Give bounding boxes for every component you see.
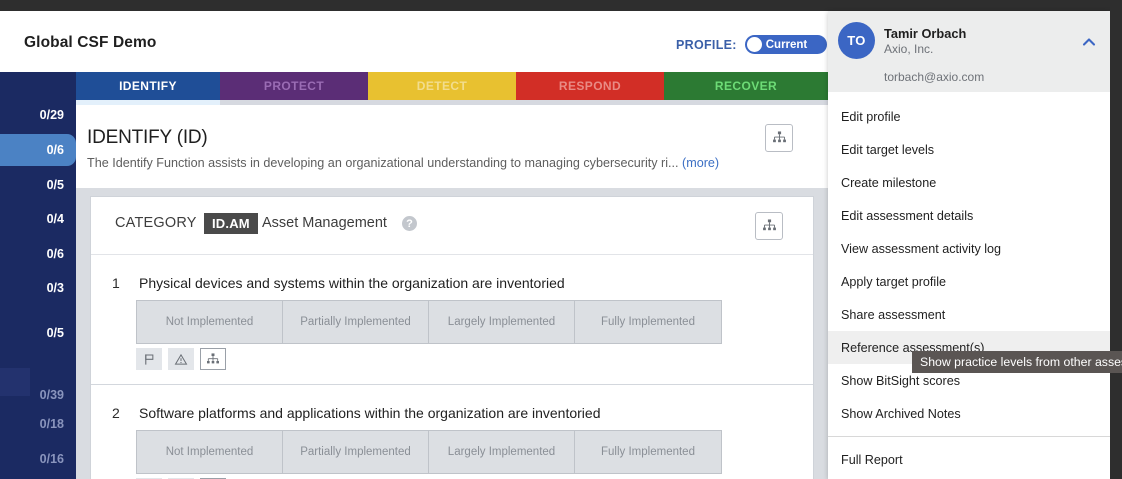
rail-item-2[interactable]: 0/5 [0, 170, 76, 200]
flag-button[interactable] [136, 348, 162, 370]
menu-item-label: Full Report [841, 453, 903, 467]
function-title: IDENTIFY (ID) [87, 127, 208, 149]
practice-level-selector: Not Implemented Partially Implemented La… [136, 300, 722, 344]
tab-label: IDENTIFY [119, 79, 177, 93]
chevron-up-icon[interactable] [1082, 35, 1096, 49]
rail-item-value: 0/5 [47, 178, 64, 192]
tab-label: DETECT [417, 79, 467, 93]
tab-label: RECOVER [715, 79, 777, 93]
tab-identify[interactable]: IDENTIFY [76, 72, 220, 100]
menu-item-full-report[interactable]: Full Report [828, 443, 1110, 476]
hierarchy-icon [772, 131, 787, 145]
rail-item-value: 0/18 [40, 417, 64, 431]
toggle-knob [747, 37, 762, 52]
rail-item-7[interactable]: 0/39 [0, 380, 76, 410]
category-header: CATEGORY ID.AM Asset Management ? [91, 197, 813, 255]
warning-icon [174, 353, 188, 366]
menu-item-label: Edit profile [841, 110, 901, 124]
tab-detect[interactable]: DETECT [368, 72, 516, 100]
category-code-badge: ID.AM [204, 213, 258, 234]
function-header: IDENTIFY (ID) The Identify Function assi… [76, 105, 828, 188]
tab-respond[interactable]: RESPOND [516, 72, 664, 100]
rail-item-value: 0/39 [40, 388, 64, 402]
category-name: Asset Management [262, 215, 387, 231]
menu-item-label: Show Archived Notes [841, 407, 961, 421]
level-fully-implemented[interactable]: Fully Implemented [575, 431, 721, 473]
rail-item-9[interactable]: 0/16 [0, 444, 76, 474]
level-label: Not Implemented [166, 316, 254, 328]
function-description: The Identify Function assists in develop… [87, 156, 777, 170]
practice-level-selector: Not Implemented Partially Implemented La… [136, 430, 722, 474]
hierarchy-icon [762, 219, 777, 233]
menu-item-label: Share assessment [841, 308, 945, 322]
level-largely-implemented[interactable]: Largely Implemented [429, 431, 575, 473]
level-fully-implemented[interactable]: Fully Implemented [575, 301, 721, 343]
warning-button[interactable] [168, 348, 194, 370]
menu-item-label: Show BitSight scores [841, 374, 960, 388]
rail-item-value: 0/16 [40, 452, 64, 466]
menu-item-label: Edit assessment details [841, 209, 973, 223]
level-partially-implemented[interactable]: Partially Implemented [283, 301, 429, 343]
menu-item-edit-assessment-details[interactable]: Edit assessment details [828, 199, 1110, 232]
rail-item-value: 0/4 [47, 212, 64, 226]
menu-divider [828, 436, 1110, 437]
browser-chrome-top [0, 0, 1122, 11]
function-tabs: IDENTIFY PROTECT DETECT RESPOND RECOVER [76, 72, 828, 100]
more-link[interactable]: (more) [682, 156, 719, 170]
profile-label: PROFILE: [676, 38, 737, 52]
rail-item-3[interactable]: 0/4 [0, 204, 76, 234]
rail-item-0[interactable]: 0/29 [0, 100, 76, 130]
profile-toggle[interactable]: Current [745, 35, 827, 54]
hierarchy-icon [206, 353, 220, 366]
practice-text: Software platforms and applications with… [139, 405, 601, 421]
rail-item-6[interactable]: 0/5 [0, 318, 76, 348]
function-description-text: The Identify Function assists in develop… [87, 156, 679, 170]
menu-item-label: Create milestone [841, 176, 936, 190]
help-icon[interactable]: ? [402, 216, 417, 231]
account-dropdown: TO Tamir Orbach Axio, Inc. torbach@axio.… [828, 11, 1110, 479]
avatar: TO [838, 22, 875, 59]
app-root: Global CSF Demo PROFILE: Current 0/29 0/… [0, 0, 1122, 479]
rail-item-8[interactable]: 0/18 [0, 409, 76, 439]
level-largely-implemented[interactable]: Largely Implemented [429, 301, 575, 343]
category-label: CATEGORY [115, 215, 197, 231]
level-label: Not Implemented [166, 446, 254, 458]
menu-item-label: View assessment activity log [841, 242, 1001, 256]
level-label: Partially Implemented [300, 446, 411, 458]
level-label: Fully Implemented [601, 316, 695, 328]
function-hierarchy-button[interactable] [765, 124, 793, 152]
tooltip-text: Show practice levels from other assess [920, 355, 1122, 369]
user-org: Axio, Inc. [884, 42, 933, 56]
menu-item-label: Apply target profile [841, 275, 946, 289]
menu-item-share-assessment[interactable]: Share assessment [828, 298, 1110, 331]
rail-item-5[interactable]: 0/3 [0, 273, 76, 303]
tab-protect[interactable]: PROTECT [220, 72, 368, 100]
profile-control: PROFILE: Current [676, 35, 827, 54]
tab-recover[interactable]: RECOVER [664, 72, 828, 100]
tab-label: PROTECT [264, 79, 324, 93]
menu-item-apply-target-profile[interactable]: Apply target profile [828, 265, 1110, 298]
category-card: CATEGORY ID.AM Asset Management ? [90, 196, 814, 479]
level-not-implemented[interactable]: Not Implemented [137, 301, 283, 343]
flag-icon [143, 353, 156, 366]
menu-item-edit-target-levels[interactable]: Edit target levels [828, 133, 1110, 166]
tab-label: RESPOND [559, 79, 621, 93]
practice-text: Physical devices and systems within the … [139, 275, 565, 291]
practice-row: 1 Physical devices and systems within th… [91, 255, 813, 385]
assessment-content: CATEGORY ID.AM Asset Management ? [76, 188, 828, 479]
toggle-value: Current [766, 35, 808, 54]
rail-item-4[interactable]: 0/6 [0, 239, 76, 269]
level-label: Partially Implemented [300, 316, 411, 328]
menu-item-label: Edit target levels [841, 143, 934, 157]
rail-item-value: 0/6 [47, 247, 64, 261]
level-not-implemented[interactable]: Not Implemented [137, 431, 283, 473]
level-partially-implemented[interactable]: Partially Implemented [283, 431, 429, 473]
browser-chrome-right [1110, 0, 1122, 479]
menu-item-edit-profile[interactable]: Edit profile [828, 100, 1110, 133]
rail-item-1[interactable]: 0/6 [0, 134, 76, 166]
level-label: Largely Implemented [448, 316, 555, 328]
hierarchy-button[interactable] [200, 348, 226, 370]
menu-item-view-assessment-activity-log[interactable]: View assessment activity log [828, 232, 1110, 265]
category-hierarchy-button[interactable] [755, 212, 783, 240]
user-name: Tamir Orbach [884, 26, 966, 41]
rail-item-value: 0/5 [47, 326, 64, 340]
level-label: Largely Implemented [448, 446, 555, 458]
account-dropdown-header[interactable]: TO Tamir Orbach Axio, Inc. torbach@axio.… [828, 11, 1110, 92]
user-email: torbach@axio.com [884, 70, 984, 84]
page-title: Global CSF Demo [24, 34, 156, 52]
level-label: Fully Implemented [601, 446, 695, 458]
left-rail: 0/29 0/6 0/5 0/4 0/6 0/3 0/5 0/39 [0, 72, 76, 479]
practice-number: 1 [112, 275, 120, 291]
practice-number: 2 [112, 405, 120, 421]
rail-item-value: 0/3 [47, 281, 64, 295]
rail-item-value: 0/6 [47, 143, 64, 157]
rail-item-value: 0/29 [40, 108, 64, 122]
tooltip: Show practice levels from other assess [912, 351, 1122, 373]
menu-item-create-milestone[interactable]: Create milestone [828, 166, 1110, 199]
practice-row: 2 Software platforms and applications wi… [91, 385, 813, 479]
menu-item-show-archived-notes[interactable]: Show Archived Notes [828, 397, 1110, 430]
practice-actions [136, 348, 226, 370]
